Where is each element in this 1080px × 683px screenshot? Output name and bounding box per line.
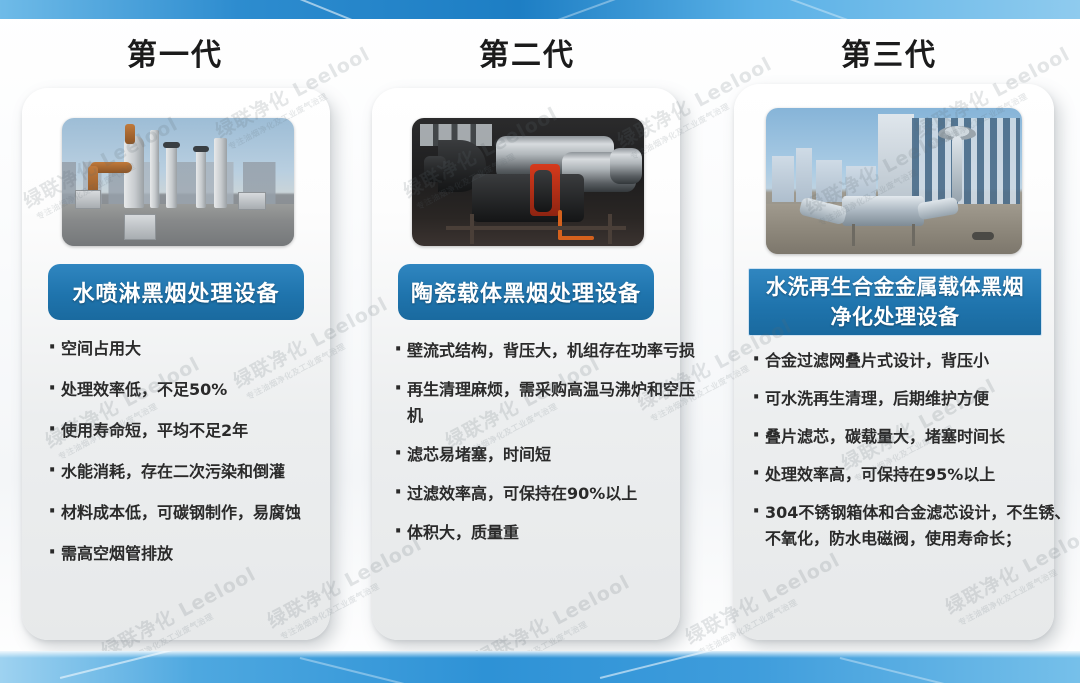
bottom-banner-diagonal-4 [840,657,1080,683]
card-2-title-text: 陶瓷载体黑烟处理设备 [411,276,641,308]
photo-rooftop [62,204,294,246]
list-item: 可水洗再生清理，后期维护方便 [752,386,1072,412]
photo-stack-3 [166,146,177,208]
photo-purifier-body [842,196,924,226]
top-banner-gradient [0,0,1080,19]
photo-distant-buildings [772,156,794,202]
card-3-bullet-list: 合金过滤网叠片式设计，背压小 可水洗再生清理，后期维护方便 叠片滤芯，碳载量大，… [734,348,1080,564]
list-item: 过滤效率高，可保持在90%以上 [394,481,702,507]
photo-red-component-face [534,170,552,212]
list-item: 304不锈钢箱体和合金滤芯设计，不生锈、不氧化，防水电磁阀，使用寿命长； [752,500,1072,552]
card-3-title-banner: 水洗再生合金金属载体黑烟 净化处理设备 [748,268,1042,336]
photo-vertical-stack [952,136,962,202]
photo-distant-buildings-3 [816,160,842,202]
photo-support-frame-v1 [470,214,474,244]
photo-roof-box [124,214,156,240]
card-2-bullet-list: 壁流式结构，背压大，机组存在功率亏损 再生清理麻烦，需采购高温马沸炉和空压机 滤… [372,338,720,559]
card-2-photo [412,118,644,246]
top-banner [0,0,1080,19]
photo-main-building [878,114,914,206]
list-item: 使用寿命短，平均不足2年 [48,418,356,444]
card-3-title-line-2: 净化处理设备 [766,302,1024,332]
card-1-title-text: 水喷淋黑烟处理设备 [72,276,279,308]
photo-right-duct [610,148,642,184]
photo-stack-2 [150,130,159,208]
generation-heading-1: 第一代 [20,34,330,78]
generation-heading-row: 第一代 第二代 第三代 [0,34,1080,80]
photo-duct-riser [125,124,135,144]
list-item: 体积大，质量重 [394,520,702,546]
generation-card-2[interactable]: 陶瓷载体黑烟处理设备 壁流式结构，背压大，机组存在功率亏损 再生清理麻烦，需采购… [372,88,680,640]
photo-stack-cap-2 [193,146,209,152]
list-item: 水能消耗，存在二次污染和倒灌 [48,459,356,485]
card-1-title-banner: 水喷淋黑烟处理设备 [48,264,304,320]
generation-card-1[interactable]: 水喷淋黑烟处理设备 空间占用大 处理效率低，不足50% 使用寿命短，平均不足2年… [22,88,330,640]
photo-support-frame-v2 [608,214,612,244]
list-item: 需高空烟管排放 [48,541,356,567]
generation-heading-2: 第二代 [372,34,682,78]
photo-inlet-flange [424,156,446,182]
photo-stack-cap-1 [163,142,180,148]
photo-lower-body [472,174,584,222]
generation-card-3[interactable]: 水洗再生合金金属载体黑烟 净化处理设备 合金过滤网叠片式设计，背压小 可水洗再生… [734,84,1054,640]
photo-ac-unit-1 [75,190,101,209]
card-1-bullet-list: 空间占用大 处理效率低，不足50% 使用寿命短，平均不足2年 水能消耗，存在二次… [22,336,378,582]
list-item: 空间占用大 [48,336,356,362]
list-item: 滤芯易堵塞，时间短 [394,442,702,468]
photo-stack-5 [214,138,227,208]
list-item: 合金过滤网叠片式设计，背压小 [752,348,1072,374]
photo-orange-hose-2 [558,236,594,240]
bottom-banner-diagonal-2 [300,657,621,683]
list-item: 再生清理麻烦，需采购高温马沸炉和空压机 [394,377,702,429]
photo-equipment-leg-2 [912,224,915,246]
card-1-photo [62,118,294,246]
card-3-photo [766,108,1022,254]
photo-roof-object [972,232,994,240]
photo-equipment-leg-1 [852,224,855,246]
photo-ac-unit-2 [238,192,266,210]
slide-root: 第一代 第二代 第三代 水喷淋黑烟处理设备 空间占用大 [0,0,1080,683]
list-item: 叠片滤芯，碳载量大，堵塞时间长 [752,424,1072,450]
list-item: 处理效率高，可保持在95%以上 [752,462,1072,488]
card-3-title-line-1: 水洗再生合金金属载体黑烟 [766,272,1024,302]
photo-stack-4 [196,150,206,208]
list-item: 处理效率低，不足50% [48,377,356,403]
bottom-banner [0,651,1080,683]
card-2-title-banner: 陶瓷载体黑烟处理设备 [398,264,654,320]
list-item: 材料成本低，可碳钢制作，易腐蚀 [48,500,356,526]
generation-heading-3: 第三代 [734,34,1044,78]
photo-distant-buildings-2 [796,148,812,202]
list-item: 壁流式结构，背压大，机组存在功率亏损 [394,338,702,364]
